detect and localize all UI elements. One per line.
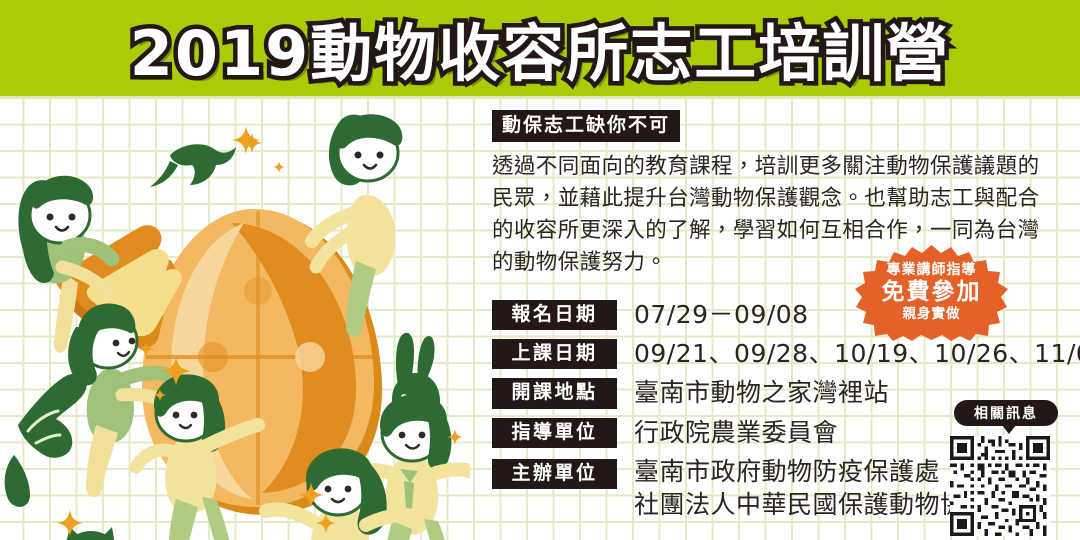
qr-code-icon[interactable] bbox=[950, 436, 1050, 536]
header-banner: 2019動物收容所志工培訓營 bbox=[0, 0, 1080, 96]
info-label-advisory-unit: 指導單位 bbox=[492, 418, 617, 448]
dog-silhouette bbox=[5, 374, 87, 507]
table-row: 上課日期 09/21、09/28、10/19、10/26、11/02 bbox=[492, 339, 1072, 369]
info-label-location: 開課地點 bbox=[492, 378, 617, 408]
info-value-advisory-unit: 行政院農業委員會 bbox=[634, 418, 838, 448]
info-label-organizer: 主辦單位 bbox=[492, 459, 617, 489]
info-label-registration-date: 報名日期 bbox=[492, 300, 617, 330]
info-value-organizer: 臺南市政府動物防疫保護處 社團法人中華民國保護動物協會 bbox=[634, 457, 991, 520]
info-label-class-date: 上課日期 bbox=[492, 339, 617, 369]
intro-tag: 動保志工缺你不可 bbox=[492, 110, 680, 142]
badge-line-1: 專業講師指導 bbox=[887, 263, 977, 278]
info-value-class-date: 09/21、09/28、10/19、10/26、11/02 bbox=[634, 339, 1080, 369]
cat-silhouette bbox=[48, 527, 121, 540]
bird-silhouette bbox=[150, 144, 236, 187]
qr-caption-bubble: 相關訊息 bbox=[954, 400, 1058, 426]
poster-title: 2019動物收容所志工培訓營 bbox=[0, 0, 1080, 96]
info-value-organizer-line-1: 臺南市政府動物防疫保護處 bbox=[634, 457, 940, 486]
info-value-registration-date: 07/29－09/08 bbox=[634, 300, 809, 330]
illustration-area bbox=[0, 95, 470, 540]
illustration-svg bbox=[0, 95, 470, 540]
info-value-organizer-line-2: 社團法人中華民國保護動物協會 bbox=[634, 490, 991, 520]
poster-canvas: 2019動物收容所志工培訓營 bbox=[0, 0, 1080, 540]
info-value-location: 臺南市動物之家灣裡站 bbox=[634, 378, 889, 408]
qr-block: 相關訊息 bbox=[950, 400, 1062, 535]
table-row: 報名日期 07/29－09/08 bbox=[492, 300, 1072, 330]
